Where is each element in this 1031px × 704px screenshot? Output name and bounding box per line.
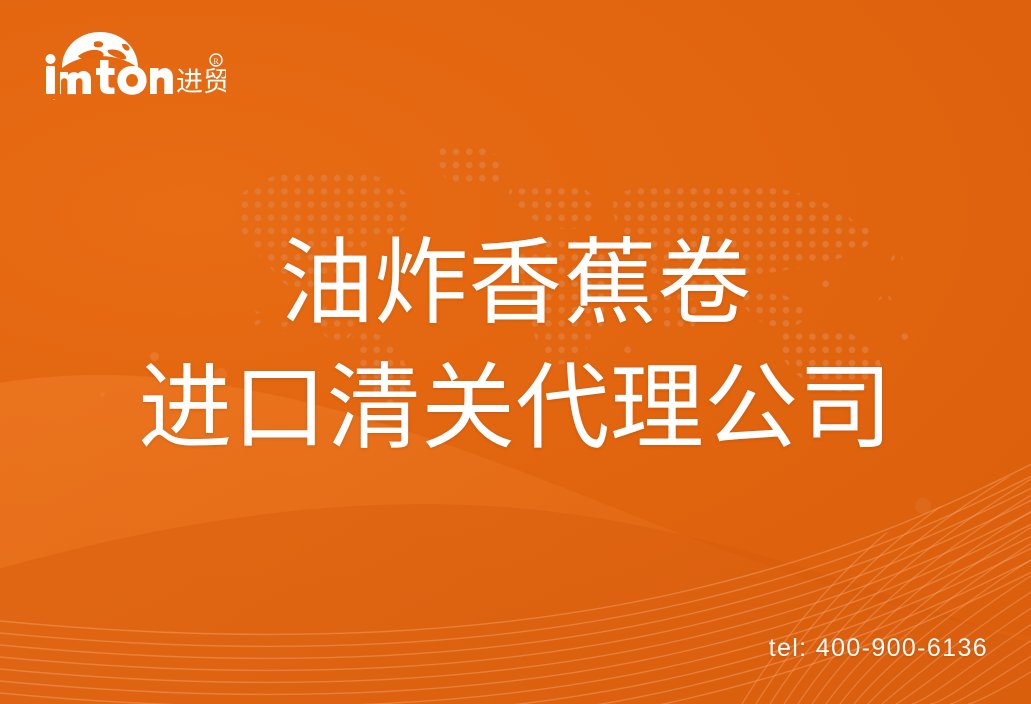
headline-line-1: 油炸香蕉卷 <box>0 228 1031 339</box>
svg-text:R: R <box>213 57 219 66</box>
trademark-icon: R <box>210 54 222 66</box>
page-title: 油炸香蕉卷 进口清关代理公司 <box>0 228 1031 464</box>
promo-banner: 进贸通 R 油炸香蕉卷 进口清关代理公司 tel: 400-900-6136 <box>0 0 1031 704</box>
headline-line-2: 进口清关代理公司 <box>0 353 1031 464</box>
company-logo[interactable]: 进贸通 R <box>36 28 226 100</box>
wordmark-chinese: 进贸通 <box>176 67 226 98</box>
globe-swoosh-logo: 进贸通 R <box>36 28 226 100</box>
contact-phone[interactable]: tel: 400-900-6136 <box>769 634 988 663</box>
